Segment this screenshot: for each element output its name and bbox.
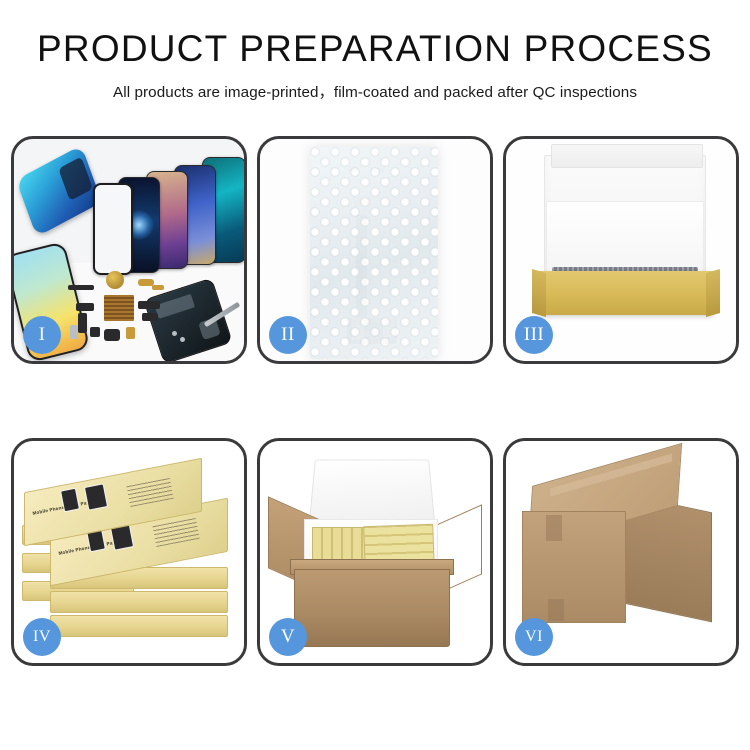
sim-tray-part	[126, 327, 135, 339]
flex-cable-part-a	[78, 313, 87, 333]
vibrator-part	[104, 329, 120, 341]
step-panel-4: Mobile Phone Spare Parts Mobile Phone Sp…	[11, 438, 247, 666]
connector-part-b	[138, 301, 160, 309]
product-preparation-page: PRODUCT PREPARATION PROCESS All products…	[0, 0, 750, 750]
yellow-tray-base	[538, 271, 714, 315]
camera-module-part	[90, 327, 100, 337]
step-badge-2: II	[269, 316, 307, 354]
bubble-film-texture	[310, 147, 438, 359]
page-title: PRODUCT PREPARATION PROCESS	[0, 30, 750, 69]
screw-part-a	[172, 331, 177, 336]
connector-part-a	[76, 303, 94, 311]
phone-screen-1	[93, 183, 133, 275]
carton-body	[294, 569, 450, 647]
shipping-carton-front	[522, 511, 626, 623]
button-flex-part	[152, 285, 164, 290]
phone-screen-fan	[76, 153, 244, 273]
step-badge-5: V	[269, 618, 307, 656]
earpiece-mesh-part	[68, 285, 94, 290]
step-panel-3: III	[503, 136, 739, 364]
step-badge-1: I	[23, 316, 61, 354]
step-panel-2: II	[257, 136, 493, 364]
speaker-part	[106, 271, 124, 289]
step-badge-4: IV	[23, 618, 61, 656]
retail-box-r3	[50, 615, 228, 637]
step-panel-5: V	[257, 438, 493, 666]
step-panel-6: VI	[503, 438, 739, 666]
retail-box-r2	[50, 591, 228, 613]
step-panel-1: I	[11, 136, 247, 364]
copper-grid-part	[104, 295, 134, 321]
bubble-wrap-bag	[310, 147, 438, 359]
screw-part-b	[180, 337, 185, 342]
spare-parts-cluster	[66, 269, 196, 355]
foam-insert-lid	[309, 460, 435, 524]
page-header: PRODUCT PREPARATION PROCESS All products…	[0, 0, 750, 102]
white-foam-sheet	[546, 201, 704, 277]
connector-part-c	[142, 313, 158, 321]
step-badge-3: III	[515, 316, 553, 354]
page-subtitle: All products are image-printed，film-coat…	[0, 80, 750, 102]
carton-tape-mark-bottom	[548, 599, 564, 621]
metal-bracket-part	[70, 325, 78, 339]
carton-tape-mark-top	[546, 515, 562, 541]
process-step-grid: I	[11, 136, 739, 682]
box-thumbnail-1b	[84, 483, 108, 510]
step-badge-6: VI	[515, 618, 553, 656]
